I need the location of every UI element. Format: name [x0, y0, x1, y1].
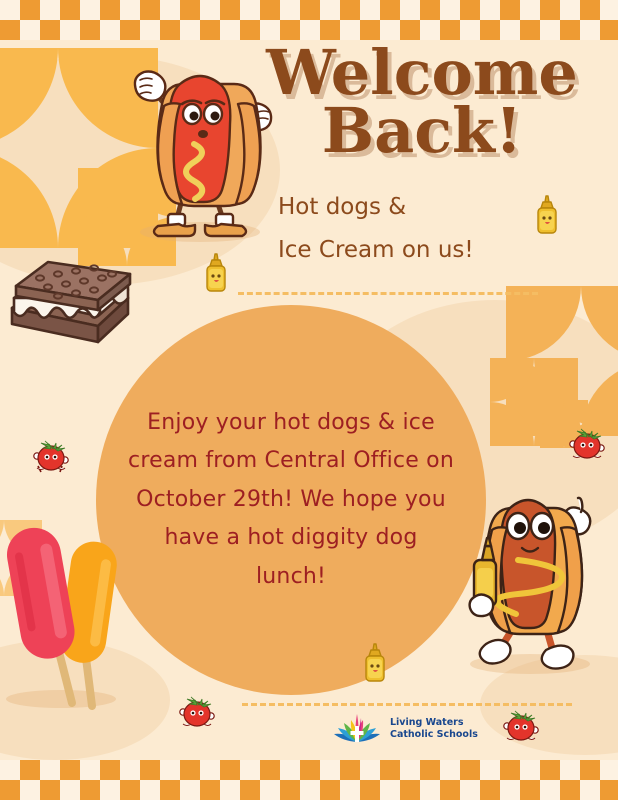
tomato-character-icon [32, 436, 70, 474]
message-circle: Enjoy your hot dogs & ice cream from Cen… [96, 305, 486, 695]
mustard-bottle-smiling-icon [203, 250, 229, 294]
subtitle-block: Hot dogs & Ice Cream on us! [260, 186, 590, 271]
hot-dog-mascot-with-mustard-bottle-icon [452, 468, 608, 678]
flyer-poster: Welcome Back! Hot dogs & Ice Cream on us… [0, 0, 618, 800]
logo-text: Living Waters Catholic Schools [390, 717, 478, 741]
divider-top [238, 292, 538, 295]
checkerboard-border-bottom [0, 760, 618, 800]
subtitle-line-1: Hot dogs & [278, 186, 590, 229]
flame-cross-logo-icon [332, 712, 382, 746]
subtitle-line-2: Ice Cream on us! [278, 229, 590, 272]
checkerboard-border-top [0, 0, 618, 40]
message-text: Enjoy your hot dogs & ice cream from Cen… [126, 404, 456, 597]
tomato-character-icon [502, 706, 540, 744]
ice-cream-sandwich-icon [2, 238, 138, 354]
four-point-sparkle-icon [490, 358, 578, 446]
tomato-character-icon [568, 424, 606, 462]
four-point-sparkle-icon [506, 286, 618, 436]
two-popsicles-icon [0, 498, 126, 713]
divider-bottom [242, 703, 572, 706]
mustard-bottle-smiling-icon [362, 640, 388, 684]
page-title: Welcome Back! [242, 44, 602, 161]
tomato-character-icon [178, 692, 216, 730]
school-logo: Living Waters Catholic Schools [332, 712, 478, 746]
